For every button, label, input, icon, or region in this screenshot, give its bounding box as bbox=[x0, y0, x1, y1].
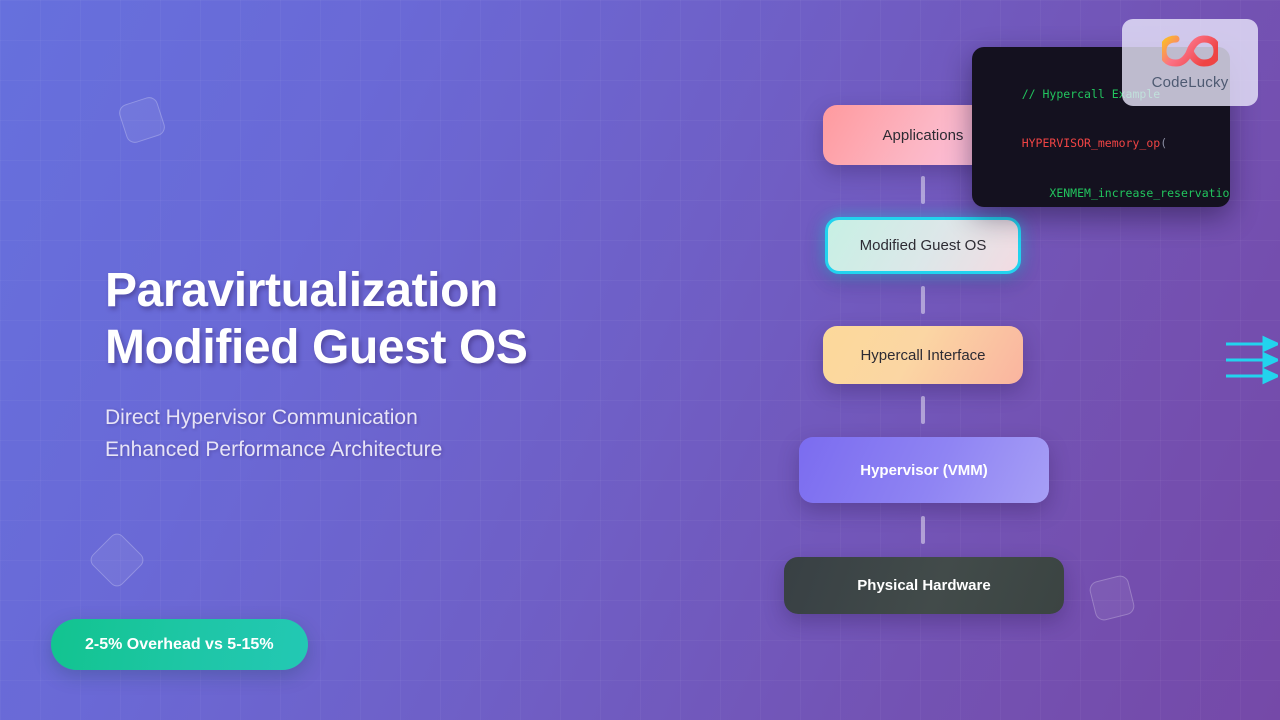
infinity-icon bbox=[1162, 34, 1218, 73]
code-line-call-open: HYPERVISOR_memory_op( bbox=[994, 119, 1210, 169]
arrow-right-icon bbox=[1224, 334, 1278, 386]
flow-node-modified-guest-os[interactable]: Modified Guest OS bbox=[825, 217, 1021, 274]
flow-connector-2 bbox=[921, 286, 925, 314]
flow-connector-1 bbox=[921, 176, 925, 204]
code-function-name: HYPERVISOR_memory_op bbox=[1022, 136, 1160, 150]
flow-node-hypervisor-vmm[interactable]: Hypervisor (VMM) bbox=[799, 437, 1049, 503]
flow-node-physical-hardware[interactable]: Physical Hardware bbox=[784, 557, 1064, 614]
code-open-paren: ( bbox=[1160, 136, 1167, 150]
flow-connector-4 bbox=[921, 516, 925, 544]
code-arg-reservation-const: XENMEM_increase_reservation, bbox=[1022, 186, 1230, 200]
code-line-arg-1: XENMEM_increase_reservation, bbox=[994, 168, 1210, 207]
watermark-label: CodeLucky bbox=[1152, 74, 1229, 91]
watermark-badge: CodeLucky bbox=[1122, 19, 1258, 106]
flow-node-hypercall-interface[interactable]: Hypercall Interface bbox=[823, 326, 1023, 384]
flow-connector-3 bbox=[921, 396, 925, 424]
